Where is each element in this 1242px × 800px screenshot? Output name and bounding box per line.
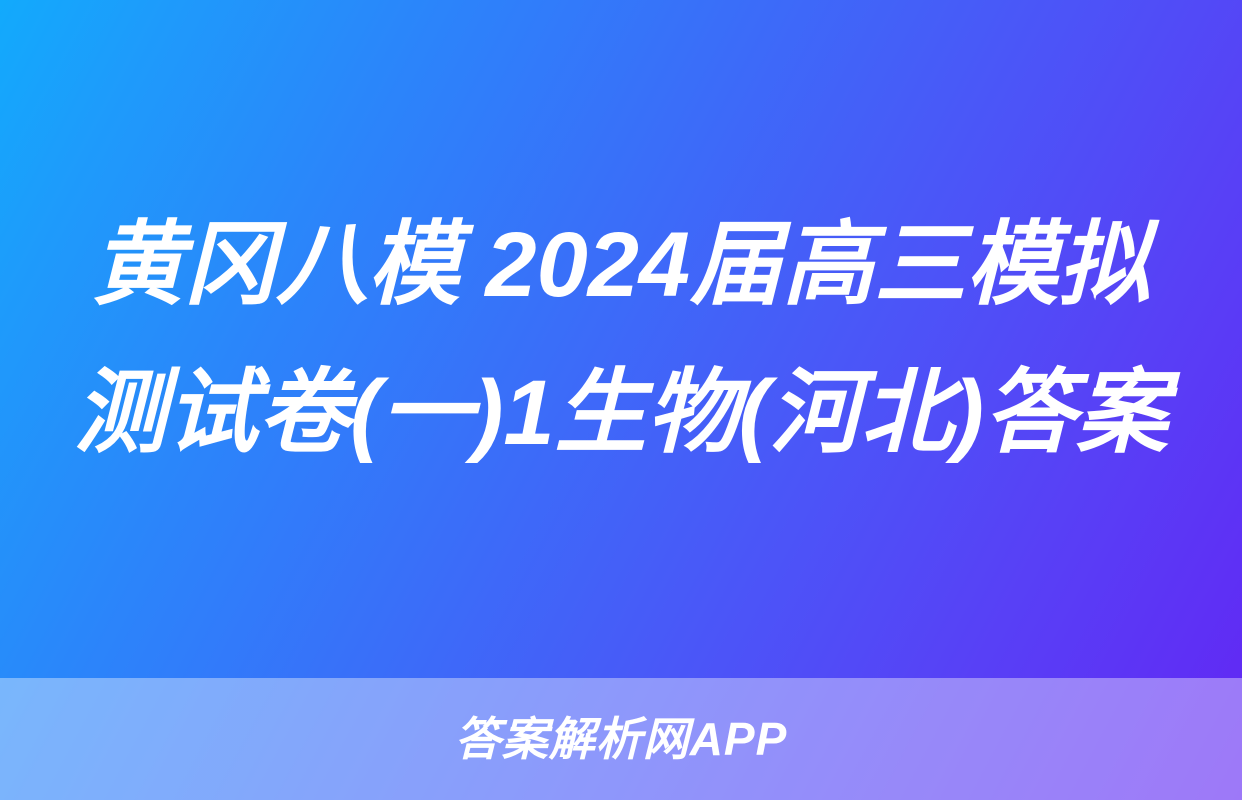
watermark-text: 答案解析网APP xyxy=(455,716,788,762)
watermark-band: 答案解析网APP xyxy=(0,678,1242,800)
poster-canvas: 黄冈八模 2024届高三模拟测试卷(一)1生物(河北)答案 答案解析网APP xyxy=(0,0,1242,800)
page-title: 黄冈八模 2024届高三模拟测试卷(一)1生物(河北)答案 xyxy=(72,191,1170,487)
hero-title-area: 黄冈八模 2024届高三模拟测试卷(一)1生物(河北)答案 xyxy=(0,0,1242,678)
